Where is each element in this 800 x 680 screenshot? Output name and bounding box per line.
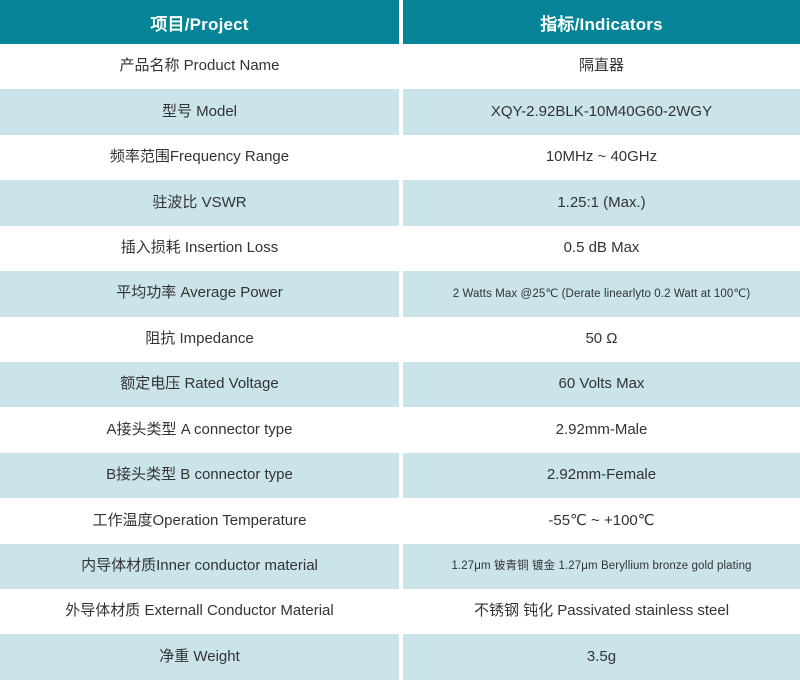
row-label: 平均功率 Average Power [0, 271, 399, 316]
row-label: B接头类型 B connector type [0, 453, 399, 498]
table-row: 频率范围Frequency Range10MHz ~ 40GHz [0, 135, 800, 180]
table-header-row: 项目/Project 指标/Indicators [0, 0, 800, 44]
column-header-project: 项目/Project [0, 0, 399, 44]
row-value: 2.92mm-Female [403, 453, 800, 498]
table-row: 阻抗 Impedance50 Ω [0, 317, 800, 362]
row-label: 驻波比 VSWR [0, 180, 399, 225]
table-row: 插入损耗 Insertion Loss0.5 dB Max [0, 226, 800, 271]
row-value: 隔直器 [403, 44, 800, 89]
row-value: XQY-2.92BLK-10M40G60-2WGY [403, 89, 800, 134]
row-value: 2 Watts Max @25℃ (Derate linearlyto 0.2 … [403, 271, 800, 316]
row-value: 50 Ω [403, 317, 800, 362]
row-value: 1.25:1 (Max.) [403, 180, 800, 225]
row-value: -55℃ ~ +100℃ [403, 498, 800, 543]
row-value: 不锈钢 钝化 Passivated stainless steel [403, 589, 800, 634]
row-label: 内导体材质Inner conductor material [0, 544, 399, 589]
table-row: A接头类型 A connector type2.92mm-Male [0, 407, 800, 452]
row-label: 型号 Model [0, 89, 399, 134]
table-row: 产品名称 Product Name隔直器 [0, 44, 800, 89]
table-row: 工作温度Operation Temperature-55℃ ~ +100℃ [0, 498, 800, 543]
table-row: 驻波比 VSWR1.25:1 (Max.) [0, 180, 800, 225]
row-label: 外导体材质 Externall Conductor Material [0, 589, 399, 634]
column-header-indicators: 指标/Indicators [403, 0, 800, 44]
row-label: 阻抗 Impedance [0, 317, 399, 362]
row-value: 0.5 dB Max [403, 226, 800, 271]
row-label: 插入损耗 Insertion Loss [0, 226, 399, 271]
table-row: 额定电压 Rated Voltage60 Volts Max [0, 362, 800, 407]
row-value: 10MHz ~ 40GHz [403, 135, 800, 180]
table-row: B接头类型 B connector type2.92mm-Female [0, 453, 800, 498]
specification-table: 项目/Project 指标/Indicators 产品名称 Product Na… [0, 0, 800, 680]
row-label: 产品名称 Product Name [0, 44, 399, 89]
table-row: 型号 ModelXQY-2.92BLK-10M40G60-2WGY [0, 89, 800, 134]
row-value: 1.27μm 铍青铜 镀金 1.27μm Beryllium bronze go… [403, 544, 800, 589]
table-row: 内导体材质Inner conductor material1.27μm 铍青铜 … [0, 544, 800, 589]
table-body: 产品名称 Product Name隔直器型号 ModelXQY-2.92BLK-… [0, 44, 800, 680]
row-label: 额定电压 Rated Voltage [0, 362, 399, 407]
row-label: 工作温度Operation Temperature [0, 498, 399, 543]
table-row: 平均功率 Average Power2 Watts Max @25℃ (Dera… [0, 271, 800, 316]
row-label: 净重 Weight [0, 634, 399, 679]
row-value: 3.5g [403, 634, 800, 679]
row-label: 频率范围Frequency Range [0, 135, 399, 180]
table-row: 净重 Weight3.5g [0, 634, 800, 679]
table-row: 外导体材质 Externall Conductor Material不锈钢 钝化… [0, 589, 800, 634]
row-label: A接头类型 A connector type [0, 407, 399, 452]
row-value: 60 Volts Max [403, 362, 800, 407]
row-value: 2.92mm-Male [403, 407, 800, 452]
